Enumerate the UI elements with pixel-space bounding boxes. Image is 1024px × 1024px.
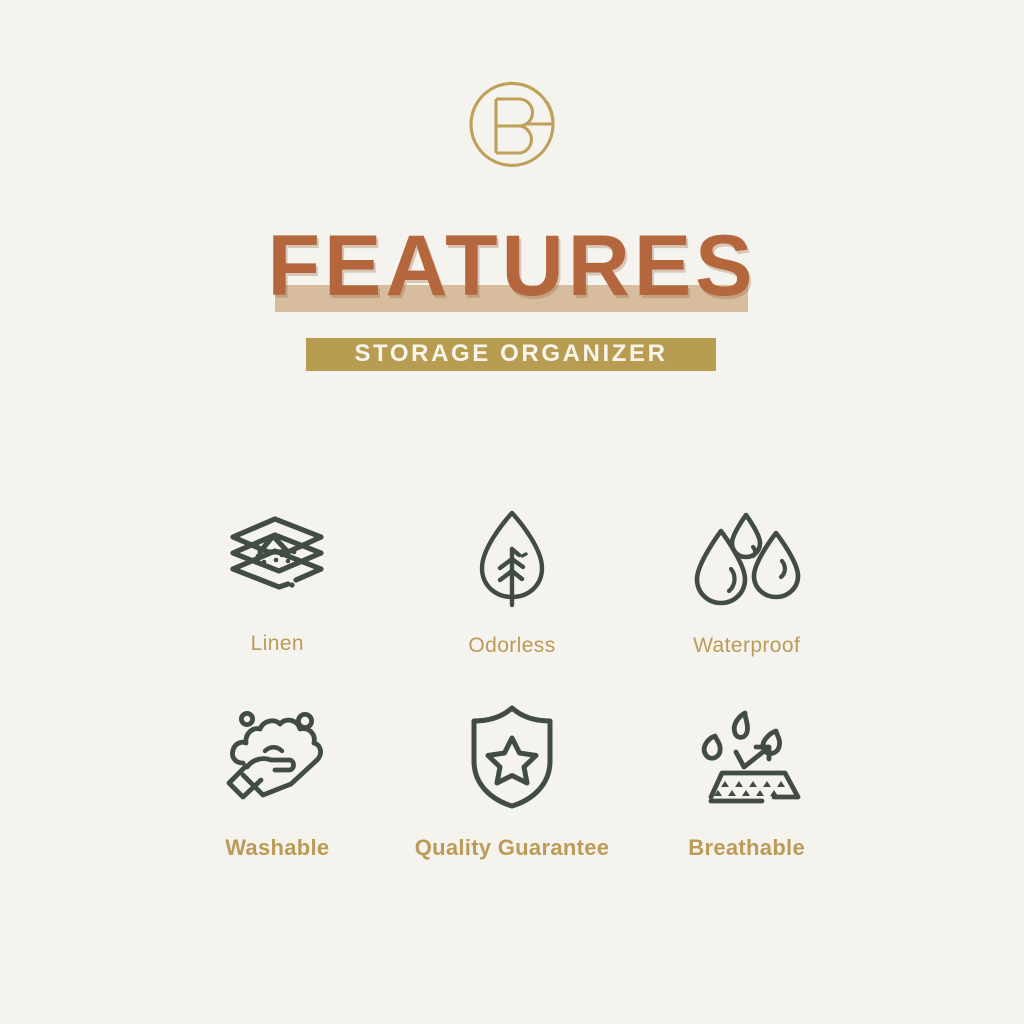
feature-label: Linen — [251, 633, 304, 654]
brand-logo — [0, 66, 1024, 182]
feature-item-quality-guarantee: Quality Guarantee — [395, 703, 630, 901]
feature-item-odorless: Odorless — [395, 505, 630, 703]
page-subtitle: STORAGE ORGANIZER — [354, 342, 667, 367]
feature-label: Waterproof — [693, 635, 800, 656]
feature-item-washable: Washable — [160, 703, 395, 901]
shield-star-icon — [453, 703, 571, 811]
feature-item-linen: Linen — [160, 505, 395, 703]
hand-washing-foam-icon — [218, 703, 336, 811]
features-poster: FEATURES STORAGE ORGANIZER — [0, 0, 1024, 1024]
feature-label: Washable — [225, 837, 329, 859]
leaf-icon — [453, 505, 571, 613]
subtitle-band: STORAGE ORGANIZER — [306, 338, 716, 371]
page-title: FEATURES — [0, 218, 1024, 314]
features-grid: Linen Odorless — [160, 505, 864, 901]
feature-item-waterproof: Waterproof — [629, 505, 864, 703]
feature-label: Breathable — [688, 837, 805, 859]
breathable-fabric-airflow-icon — [688, 703, 806, 811]
water-drops-icon — [688, 505, 806, 613]
feature-item-breathable: Breathable — [629, 703, 864, 901]
layers-icon — [218, 505, 336, 613]
feature-label: Quality Guarantee — [415, 837, 610, 859]
feature-label: Odorless — [468, 635, 555, 656]
title-block: FEATURES STORAGE ORGANIZER — [0, 218, 1024, 388]
bg-monogram-logo — [456, 68, 568, 180]
